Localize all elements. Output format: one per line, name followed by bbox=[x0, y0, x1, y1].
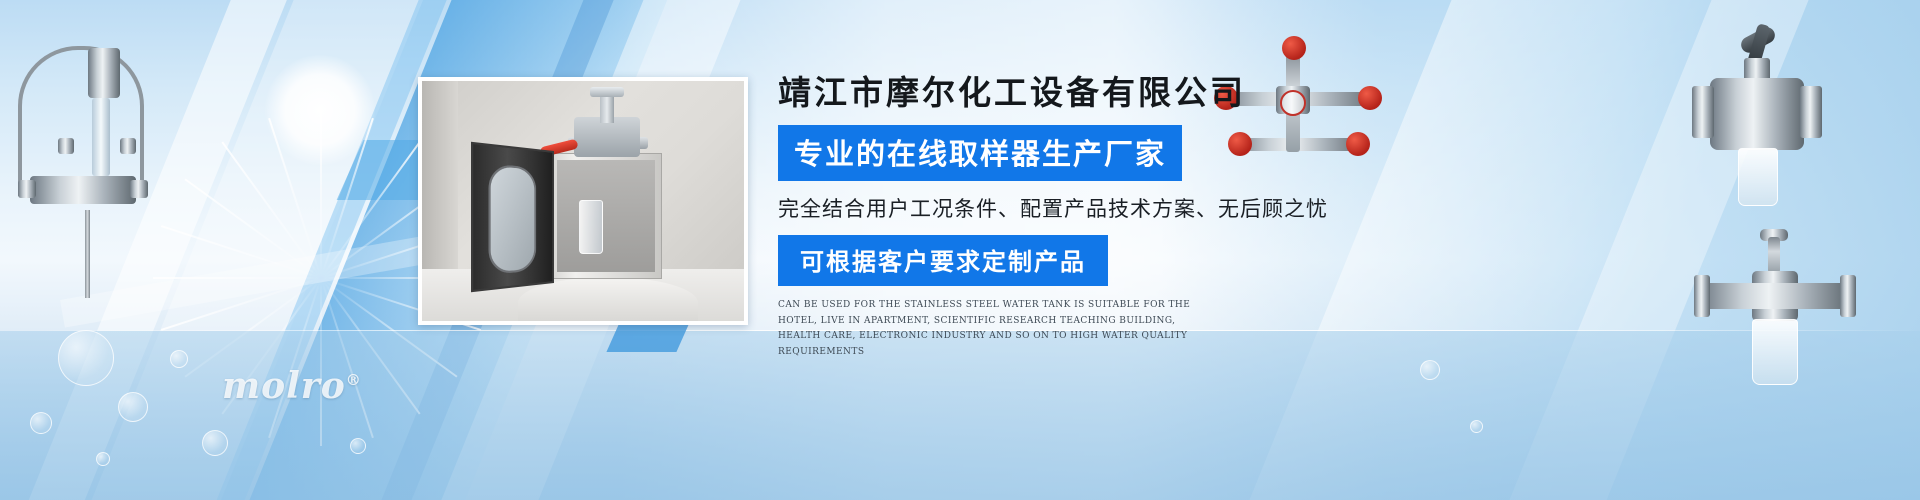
valve-handwheel-icon bbox=[1282, 36, 1306, 60]
product-photo bbox=[418, 77, 748, 325]
bubble-decoration bbox=[30, 412, 52, 434]
bubble-decoration bbox=[350, 438, 366, 454]
company-name: 靖江市摩尔化工设备有限公司 bbox=[778, 72, 1398, 113]
bubble-decoration bbox=[170, 350, 188, 368]
promotional-banner: 靖江市摩尔化工设备有限公司 专业的在线取样器生产厂家 完全结合用户工况条件、配置… bbox=[0, 0, 1920, 500]
headline-row: 专业的在线取样器生产厂家 bbox=[778, 125, 1398, 181]
bubble-decoration bbox=[1470, 420, 1483, 433]
headline-highlight: 专业的在线取样器生产厂家 bbox=[778, 125, 1182, 181]
sampler-equipment-left-image bbox=[0, 20, 170, 300]
bubble-decoration bbox=[58, 330, 114, 386]
sample-valve-equipment-image bbox=[1700, 245, 1850, 400]
bubble-decoration bbox=[118, 392, 148, 422]
english-caption: CAN BE USED FOR THE STAINLESS STEEL WATE… bbox=[778, 298, 1198, 360]
description-line: 完全结合用户工况条件、配置产品技术方案、无后顾之忧 bbox=[778, 193, 1398, 223]
watermark-text: molro bbox=[222, 365, 346, 407]
subhead-row: 可根据客户要求定制产品 bbox=[778, 235, 1398, 286]
lever-valve-equipment-image bbox=[1690, 30, 1840, 220]
bubble-decoration bbox=[202, 430, 228, 456]
subhead-highlight: 可根据客户要求定制产品 bbox=[778, 235, 1108, 286]
watermark: molro® bbox=[222, 365, 362, 407]
bubble-decoration bbox=[1420, 360, 1440, 380]
bubble-decoration bbox=[96, 452, 110, 466]
banner-text-block: 靖江市摩尔化工设备有限公司 专业的在线取样器生产厂家 完全结合用户工况条件、配置… bbox=[778, 72, 1398, 360]
watermark-registered-mark: ® bbox=[346, 371, 362, 389]
